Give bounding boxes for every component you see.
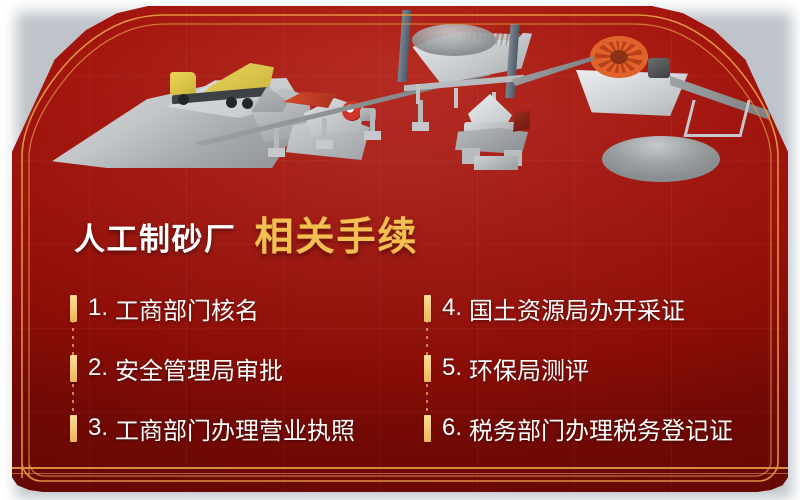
- red-banner-panel: 人工制砂厂 相关手续 1. 工商部门核名 2. 安全管理局审批: [12, 6, 788, 492]
- list-item[interactable]: 6. 税务部门办理税务登记证: [424, 398, 788, 458]
- banner-stage: 人工制砂厂 相关手续 1. 工商部门核名 2. 安全管理局审批: [0, 0, 800, 500]
- gold-bar-marker: [424, 415, 431, 442]
- list-item-number: 2.: [88, 354, 108, 382]
- list-item-label: 国土资源局办开采证: [469, 291, 685, 326]
- list-item[interactable]: 3. 工商部门办理营业执照: [70, 398, 450, 458]
- list-item[interactable]: 1. 工商部门核名: [70, 278, 450, 338]
- list-item[interactable]: 2. 安全管理局审批: [70, 338, 450, 398]
- list-item-number: 5.: [442, 354, 462, 382]
- list-item-label: 安全管理局审批: [115, 351, 283, 386]
- gold-horizontal-rule-top: [12, 467, 788, 469]
- gold-horizontal-rule-bottom: [12, 473, 788, 474]
- title-primary: 人工制砂厂: [74, 214, 237, 259]
- list-item-label: 工商部门办理营业执照: [115, 411, 355, 446]
- title-accent: 相关手续: [255, 206, 419, 262]
- procedure-list-left-column: 1. 工商部门核名 2. 安全管理局审批 3. 工商部门办理营业执照: [70, 278, 450, 458]
- list-item-label: 工商部门核名: [115, 291, 259, 326]
- gold-bar-marker: [424, 295, 431, 322]
- gold-bar-marker: [70, 415, 77, 442]
- gold-bar-marker: [70, 295, 77, 322]
- list-item[interactable]: 5. 环保局测评: [424, 338, 788, 398]
- gold-bar-marker: [70, 355, 77, 382]
- gold-bar-marker: [424, 355, 431, 382]
- banner-title: 人工制砂厂 相关手续: [74, 206, 419, 262]
- procedure-list-right-column: 4. 国土资源局办开采证 5. 环保局测评 6. 税务部门办理税务登记证: [424, 278, 788, 458]
- list-item-number: 3.: [88, 414, 108, 442]
- list-item-label: 环保局测评: [469, 351, 589, 386]
- list-item-number: 6.: [442, 414, 462, 442]
- procedure-list: 1. 工商部门核名 2. 安全管理局审批 3. 工商部门办理营业执照: [12, 278, 788, 458]
- list-item-number: 1.: [88, 294, 108, 322]
- list-item-label: 税务部门办理税务登记证: [469, 411, 733, 446]
- list-item[interactable]: 4. 国土资源局办开采证: [424, 278, 788, 338]
- list-item-number: 4.: [442, 294, 462, 322]
